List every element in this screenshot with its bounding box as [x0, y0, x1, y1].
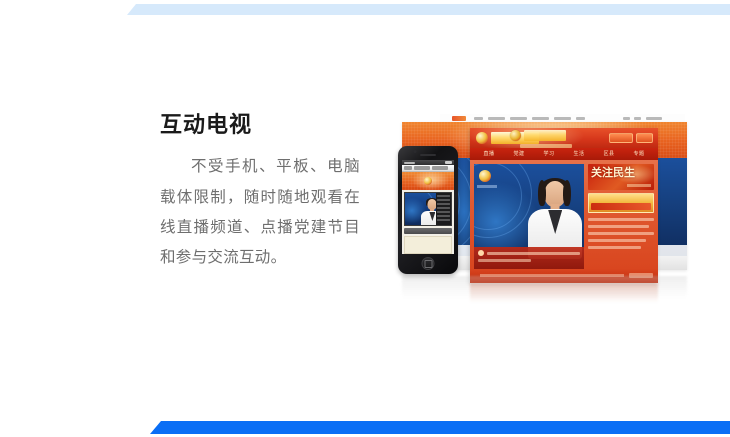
browser-menu-item: [510, 117, 527, 120]
smartphone-mockup: [398, 146, 458, 274]
front-camera-icon: [414, 150, 417, 153]
mobile-site-footer: [470, 269, 658, 283]
browser-right-item: [634, 117, 641, 120]
phone-site-header: [402, 172, 454, 190]
mobile-channel-label: [477, 185, 497, 188]
download-app-button[interactable]: [636, 133, 653, 143]
player-title-text: [487, 252, 580, 255]
mobile-site-body: 关注民生: [470, 160, 658, 269]
news-anchor-figure: [417, 198, 436, 225]
browser-menu-item: [488, 117, 505, 120]
playlist-item[interactable]: [437, 203, 450, 205]
browser-menu-item: [532, 117, 549, 120]
nav-item-district[interactable]: 区县: [603, 152, 614, 157]
live-dot-icon: [478, 250, 484, 256]
mobile-sidebar: 关注民生: [588, 164, 654, 269]
phone-video-frame[interactable]: [405, 193, 436, 225]
mobile-player-caption-bar: [474, 247, 584, 269]
promo-banner[interactable]: [588, 193, 654, 213]
nav-item-topics[interactable]: 专题: [633, 152, 644, 157]
montage-reflection: [470, 283, 658, 303]
playlist-item[interactable]: [437, 207, 450, 209]
party-emblem-icon: [479, 170, 491, 182]
news-anchor-figure: [520, 178, 584, 256]
desktop-brand-logo: [510, 130, 566, 141]
anchor-hair: [563, 180, 571, 206]
phone-player-controls[interactable]: [404, 228, 452, 234]
nav-item-life[interactable]: 生活: [573, 152, 584, 157]
phone-playlist[interactable]: [436, 193, 451, 225]
list-item[interactable]: [588, 225, 649, 228]
footer-link[interactable]: [629, 273, 653, 278]
mobile-site-window: 直播 党建 学习 生活 区县 专题: [470, 128, 658, 283]
playlist-item[interactable]: [437, 211, 450, 213]
nav-item-live[interactable]: 直播: [483, 152, 494, 157]
text-column: 互动电视 不受手机、平板、电脑载体限制，随时随地观看在线直播频道、点播党建节目和…: [160, 112, 360, 273]
anchor-hair: [538, 180, 546, 206]
page-title: 互动电视: [160, 112, 360, 138]
phone-url-bar[interactable]: [402, 165, 454, 172]
desktop-brand-tagline: [520, 144, 572, 148]
device-montage: 直播 党建 学习 生活 区县 专题: [398, 114, 726, 279]
party-emblem-icon: [424, 177, 432, 185]
bottom-accent-bar: [150, 421, 730, 434]
home-button[interactable]: [422, 257, 435, 270]
party-emblem-icon: [476, 132, 488, 144]
browser-right-item: [646, 117, 662, 120]
browser-right-item: [623, 117, 630, 120]
player-meta-text: [478, 259, 531, 262]
mobile-header-buttons[interactable]: [609, 133, 653, 143]
signal-icon: [404, 162, 415, 164]
phone-screen: [402, 160, 454, 254]
browser-menu-item: [554, 117, 571, 120]
footer-note-text: [480, 274, 624, 277]
brand-wordmark: [524, 130, 566, 141]
browser-menu-item: [576, 117, 585, 120]
feature-banner[interactable]: 关注民生: [588, 164, 654, 190]
earpiece-speaker: [420, 154, 436, 156]
description-paragraph: 不受手机、平板、电脑载体限制，随时随地观看在线直播频道、点播党建节目和参与交流互…: [160, 152, 360, 273]
mobile-video-player[interactable]: [474, 164, 584, 269]
feature-banner-title: 关注民生: [591, 168, 635, 179]
playlist-item[interactable]: [437, 195, 450, 197]
news-list[interactable]: [588, 216, 654, 269]
list-item[interactable]: [588, 246, 641, 249]
top-accent-bar: [127, 4, 730, 15]
breadcrumb-channel[interactable]: [414, 166, 430, 170]
feature-banner-subtitle: [627, 184, 651, 187]
breadcrumb-program[interactable]: [432, 166, 448, 170]
phone-content-panel: [404, 236, 452, 254]
list-item[interactable]: [588, 232, 654, 235]
playlist-item[interactable]: [437, 215, 450, 217]
phone-video-player[interactable]: [404, 192, 452, 226]
playlist-item[interactable]: [437, 219, 450, 221]
playlist-item[interactable]: [437, 199, 450, 201]
list-item[interactable]: [588, 218, 654, 221]
home-button[interactable]: [609, 133, 633, 143]
party-emblem-icon: [510, 130, 521, 141]
browser-site-logo-icon: [452, 116, 466, 121]
list-item[interactable]: [588, 239, 646, 242]
mobile-nav-bar[interactable]: 直播 党建 学习 生活 区县 专题: [470, 148, 658, 160]
browser-menu-item: [474, 117, 483, 120]
nav-item-party[interactable]: 党建: [513, 152, 524, 157]
nav-item-study[interactable]: 学习: [543, 152, 554, 157]
battery-icon: [445, 161, 452, 164]
breadcrumb-home[interactable]: [404, 166, 412, 170]
